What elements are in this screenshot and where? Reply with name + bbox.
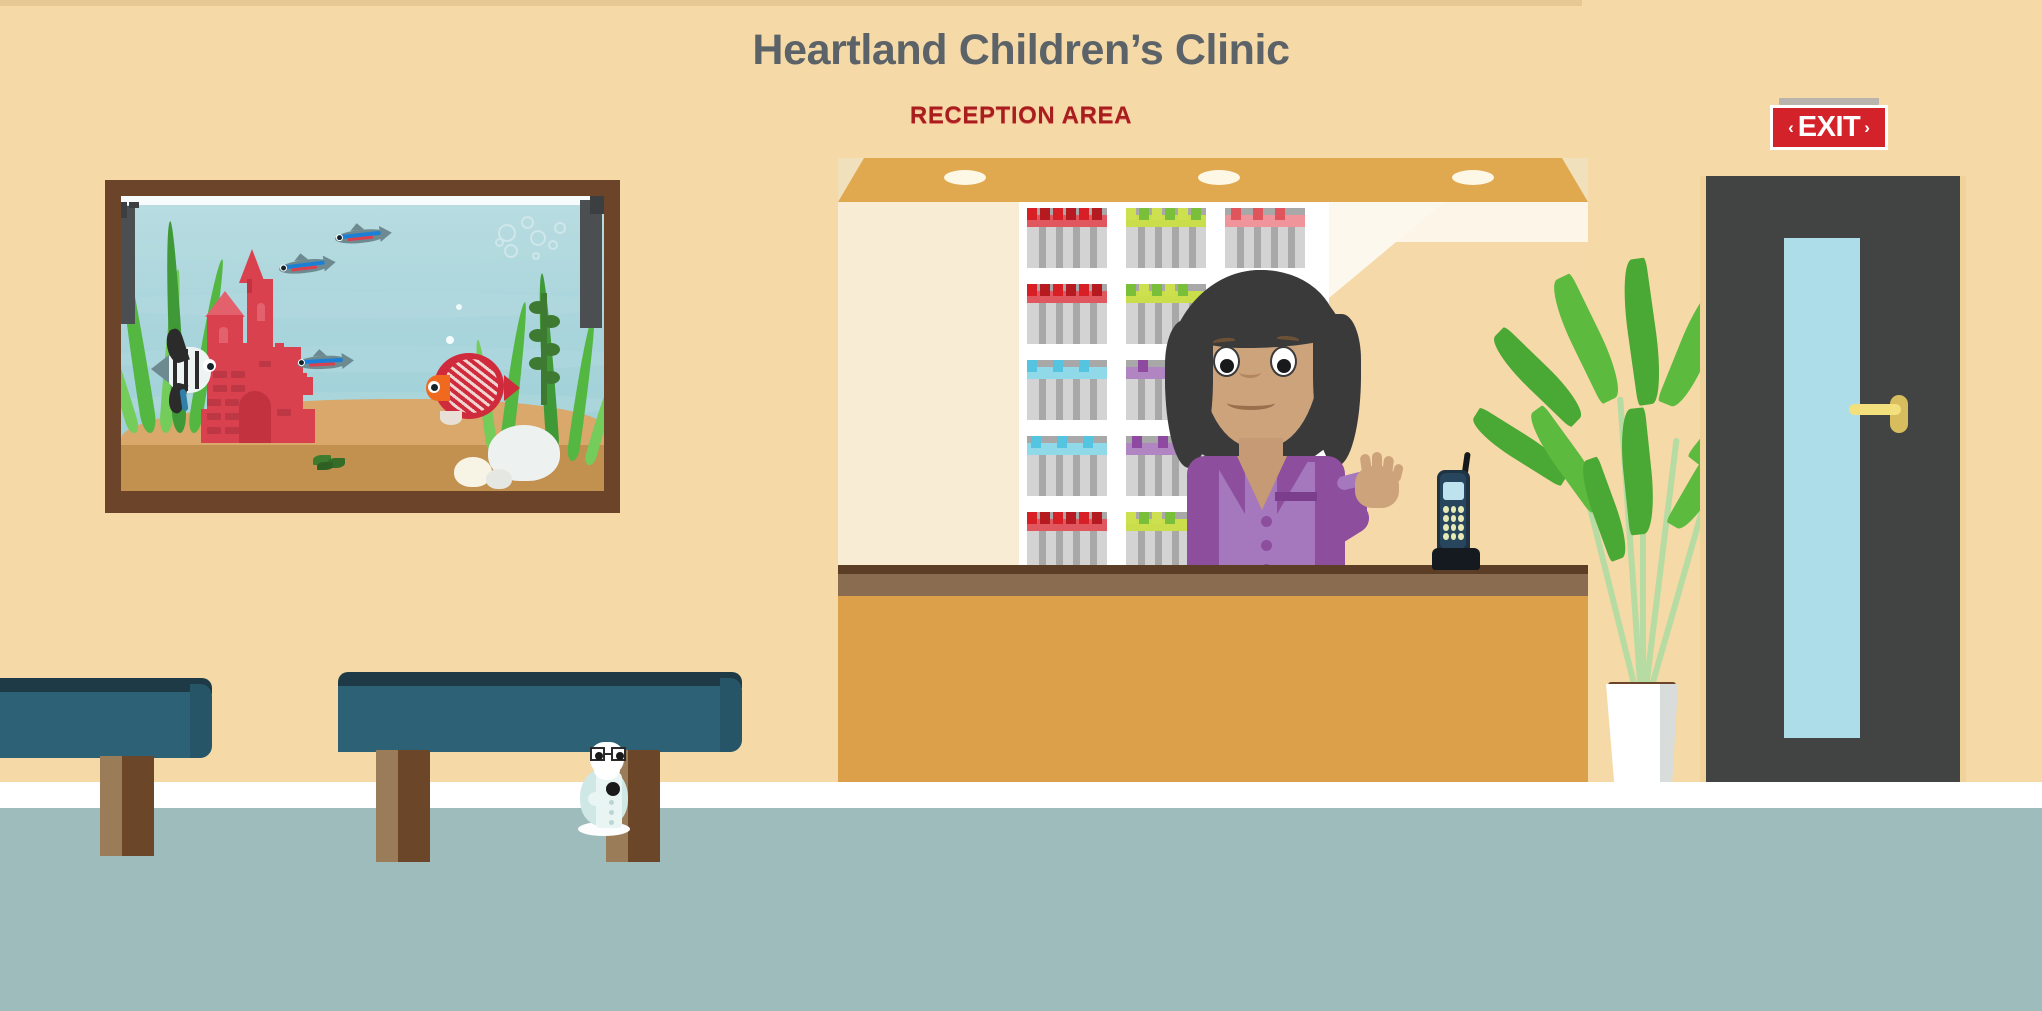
aquarium bbox=[105, 180, 620, 513]
uniform-button bbox=[1261, 540, 1272, 551]
toy-beard bbox=[594, 760, 620, 780]
plant-stem bbox=[1640, 526, 1646, 696]
phone-key[interactable] bbox=[1443, 524, 1449, 531]
aquarium-angelfish bbox=[151, 329, 229, 413]
bench-end-cap bbox=[190, 684, 212, 758]
phone-keypad[interactable] bbox=[1443, 506, 1464, 540]
soffit-bevel-right bbox=[1562, 158, 1588, 202]
recessed-ceiling-light bbox=[944, 170, 986, 185]
reception-left-wall bbox=[838, 202, 1019, 577]
aquarium-moss bbox=[313, 455, 347, 469]
exit-sign-mount bbox=[1779, 98, 1879, 105]
bench-seat bbox=[0, 692, 212, 758]
aquarium-rock-small bbox=[486, 469, 512, 489]
phone-key[interactable] bbox=[1443, 515, 1449, 522]
toy-button bbox=[609, 800, 614, 805]
aquarium-bubble bbox=[456, 304, 462, 310]
clinic-reception-scene: Heartland Children’s Clinic RECEPTION AR… bbox=[0, 0, 2042, 1011]
aquarium-bubble bbox=[548, 240, 558, 250]
aquarium-filter-clip bbox=[590, 196, 604, 214]
door-handle-lever[interactable] bbox=[1849, 404, 1901, 415]
finger bbox=[1372, 452, 1382, 476]
nose bbox=[1239, 366, 1261, 378]
exit-sign: ‹ EXIT › bbox=[1770, 98, 1888, 150]
plant-leaf bbox=[1618, 257, 1666, 405]
baseboard bbox=[0, 782, 2042, 810]
file-group[interactable] bbox=[1027, 512, 1107, 572]
finger bbox=[1360, 453, 1373, 476]
bench-leg bbox=[628, 750, 660, 862]
aquarium-neon-tetra bbox=[291, 352, 354, 372]
waiting-bench-left[interactable] bbox=[0, 678, 212, 758]
water-surface-line bbox=[121, 196, 604, 205]
phone-key[interactable] bbox=[1458, 506, 1464, 513]
page-title: Heartland Children’s Clinic bbox=[0, 26, 2042, 75]
toy-button bbox=[609, 810, 614, 815]
aquarium-heater-tube bbox=[121, 206, 135, 324]
aquarium-bubble bbox=[532, 252, 540, 260]
door-glass-panel bbox=[1784, 238, 1860, 738]
cordless-phone[interactable] bbox=[1432, 452, 1480, 570]
bench-leg-highlight bbox=[100, 756, 122, 856]
aquarium-bubble bbox=[530, 230, 546, 246]
recessed-ceiling-light bbox=[1452, 170, 1494, 185]
eye-left bbox=[1213, 346, 1240, 377]
name-tag bbox=[1275, 492, 1317, 501]
aquarium-bubble bbox=[504, 244, 518, 258]
phone-key[interactable] bbox=[1451, 515, 1457, 522]
uniform-button bbox=[1261, 516, 1272, 527]
hair-fringe bbox=[1187, 270, 1337, 348]
eye-right bbox=[1270, 346, 1297, 377]
wall-top-trim bbox=[0, 0, 1582, 6]
mouth-smile bbox=[1227, 396, 1275, 410]
aquarium-bubble bbox=[521, 216, 534, 229]
soffit-bevel-left bbox=[838, 158, 864, 202]
phone-key[interactable] bbox=[1451, 524, 1457, 531]
exit-label: EXIT bbox=[1798, 113, 1860, 142]
phone-key[interactable] bbox=[1458, 515, 1464, 522]
file-group[interactable] bbox=[1225, 208, 1305, 268]
phone-key[interactable] bbox=[1458, 533, 1464, 540]
bench-leg bbox=[122, 756, 154, 856]
desk-countertop[interactable] bbox=[838, 574, 1588, 596]
phone-key[interactable] bbox=[1443, 506, 1449, 513]
aquarium-discus-fish bbox=[426, 353, 512, 425]
phone-key[interactable] bbox=[1451, 533, 1457, 540]
phone-key[interactable] bbox=[1443, 533, 1449, 540]
toy-glasses-icon bbox=[590, 747, 626, 761]
floor bbox=[0, 808, 2042, 1011]
exit-left-arrow-icon: ‹ bbox=[1788, 119, 1794, 136]
receptionist[interactable] bbox=[1165, 270, 1400, 580]
aquarium-bushy-plant bbox=[536, 293, 552, 405]
phone-key[interactable] bbox=[1451, 506, 1457, 513]
aquarium-bubble bbox=[495, 238, 504, 247]
plant-leaf bbox=[1617, 407, 1658, 535]
area-label: RECEPTION AREA bbox=[0, 102, 2042, 130]
toy-button bbox=[609, 820, 614, 825]
bench-leg-highlight bbox=[376, 750, 398, 862]
aquarium-bubble bbox=[554, 222, 566, 234]
file-group[interactable] bbox=[1126, 208, 1206, 268]
file-group[interactable] bbox=[1027, 436, 1107, 496]
exit-right-arrow-icon: › bbox=[1864, 119, 1870, 136]
file-group[interactable] bbox=[1027, 284, 1107, 344]
aquarium-heater-clip bbox=[121, 202, 127, 218]
recessed-ceiling-light bbox=[1198, 170, 1240, 185]
file-group[interactable] bbox=[1027, 208, 1107, 268]
toy-collar-button bbox=[606, 782, 620, 796]
bench-seat bbox=[338, 686, 742, 752]
bench-leg bbox=[398, 750, 430, 862]
phone-key[interactable] bbox=[1458, 524, 1464, 531]
aquarium-filter-box bbox=[580, 200, 602, 328]
v-neckline bbox=[1237, 456, 1287, 510]
waiting-bench-right[interactable] bbox=[338, 672, 742, 752]
aquarium-bubble bbox=[446, 336, 454, 344]
file-group[interactable] bbox=[1027, 360, 1107, 420]
phone-charging-base bbox=[1432, 548, 1480, 570]
aquarium-glass bbox=[121, 196, 604, 491]
bench-end-cap bbox=[720, 678, 742, 752]
phone-screen bbox=[1443, 482, 1464, 500]
aquarium-heater-clip bbox=[129, 202, 139, 208]
exit-sign-panel: ‹ EXIT › bbox=[1770, 105, 1888, 150]
toy-doctor-figure[interactable] bbox=[576, 742, 632, 840]
